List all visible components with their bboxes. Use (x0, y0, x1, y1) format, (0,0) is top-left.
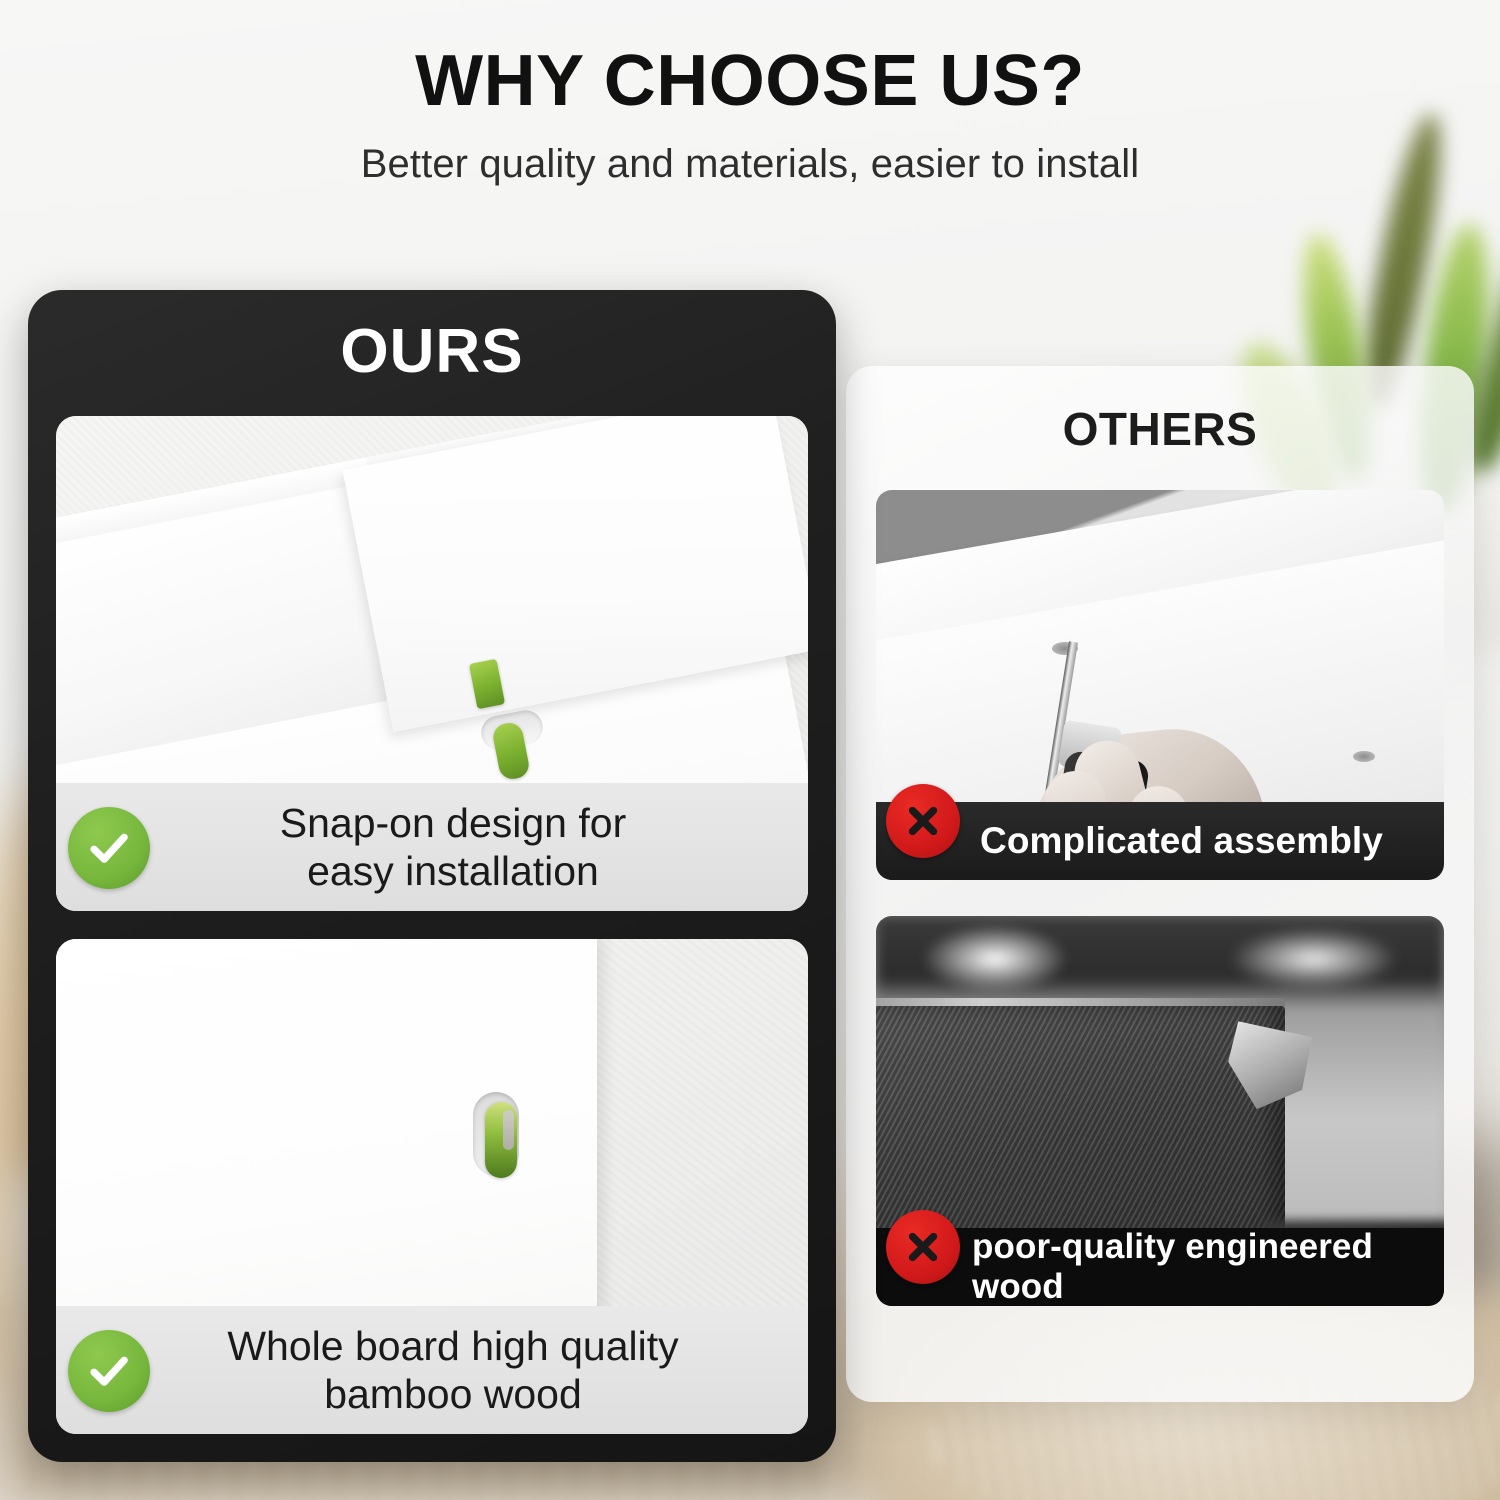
ours-photo-card-2: Whole board high quality bamboo wood (56, 939, 808, 1434)
page-subtitle: Better quality and materials, easier to … (0, 142, 1500, 187)
header: WHY CHOOSE US? Better quality and materi… (0, 44, 1500, 187)
infographic-canvas: WHY CHOOSE US? Better quality and materi… (0, 0, 1500, 1500)
page-title: WHY CHOOSE US? (0, 44, 1500, 120)
check-icon (68, 807, 150, 889)
others-caption-bar-2: poor-quality engineered wood (876, 1228, 1444, 1306)
cross-icon (886, 784, 960, 858)
others-photo-list: Complicated assembly poor-quality (876, 490, 1444, 1306)
ours-caption-bar-2: Whole board high quality bamboo wood (56, 1306, 808, 1434)
ours-title: OURS (28, 316, 836, 387)
ours-caption-text-2: Whole board high quality bamboo wood (227, 1322, 678, 1419)
ours-photo-card-1: Snap-on design for easy installation (56, 416, 808, 911)
photo-highlight (921, 924, 1069, 994)
photo-clip-pin (503, 1110, 514, 1150)
ours-caption-text-1: Snap-on design for easy installation (280, 799, 626, 896)
ours-caption-bar-1: Snap-on design for easy installation (56, 783, 808, 911)
others-caption-text-1: Complicated assembly (980, 820, 1383, 862)
cross-icon (886, 1210, 960, 1284)
others-caption-bar-1: Complicated assembly (876, 802, 1444, 880)
ours-photo-list: Snap-on design for easy installation Who… (56, 416, 808, 1434)
others-panel: OTHERS Complicated assembly (846, 366, 1474, 1402)
check-icon (68, 1330, 150, 1412)
others-title: OTHERS (846, 402, 1474, 456)
others-caption-text-2: poor-quality engineered wood (972, 1227, 1444, 1306)
others-photo-card-2: poor-quality engineered wood (876, 916, 1444, 1306)
others-photo-card-1: Complicated assembly (876, 490, 1444, 880)
ours-panel: OURS Snap-on design for easy installatio… (28, 290, 836, 1462)
photo-highlight (1228, 928, 1398, 990)
